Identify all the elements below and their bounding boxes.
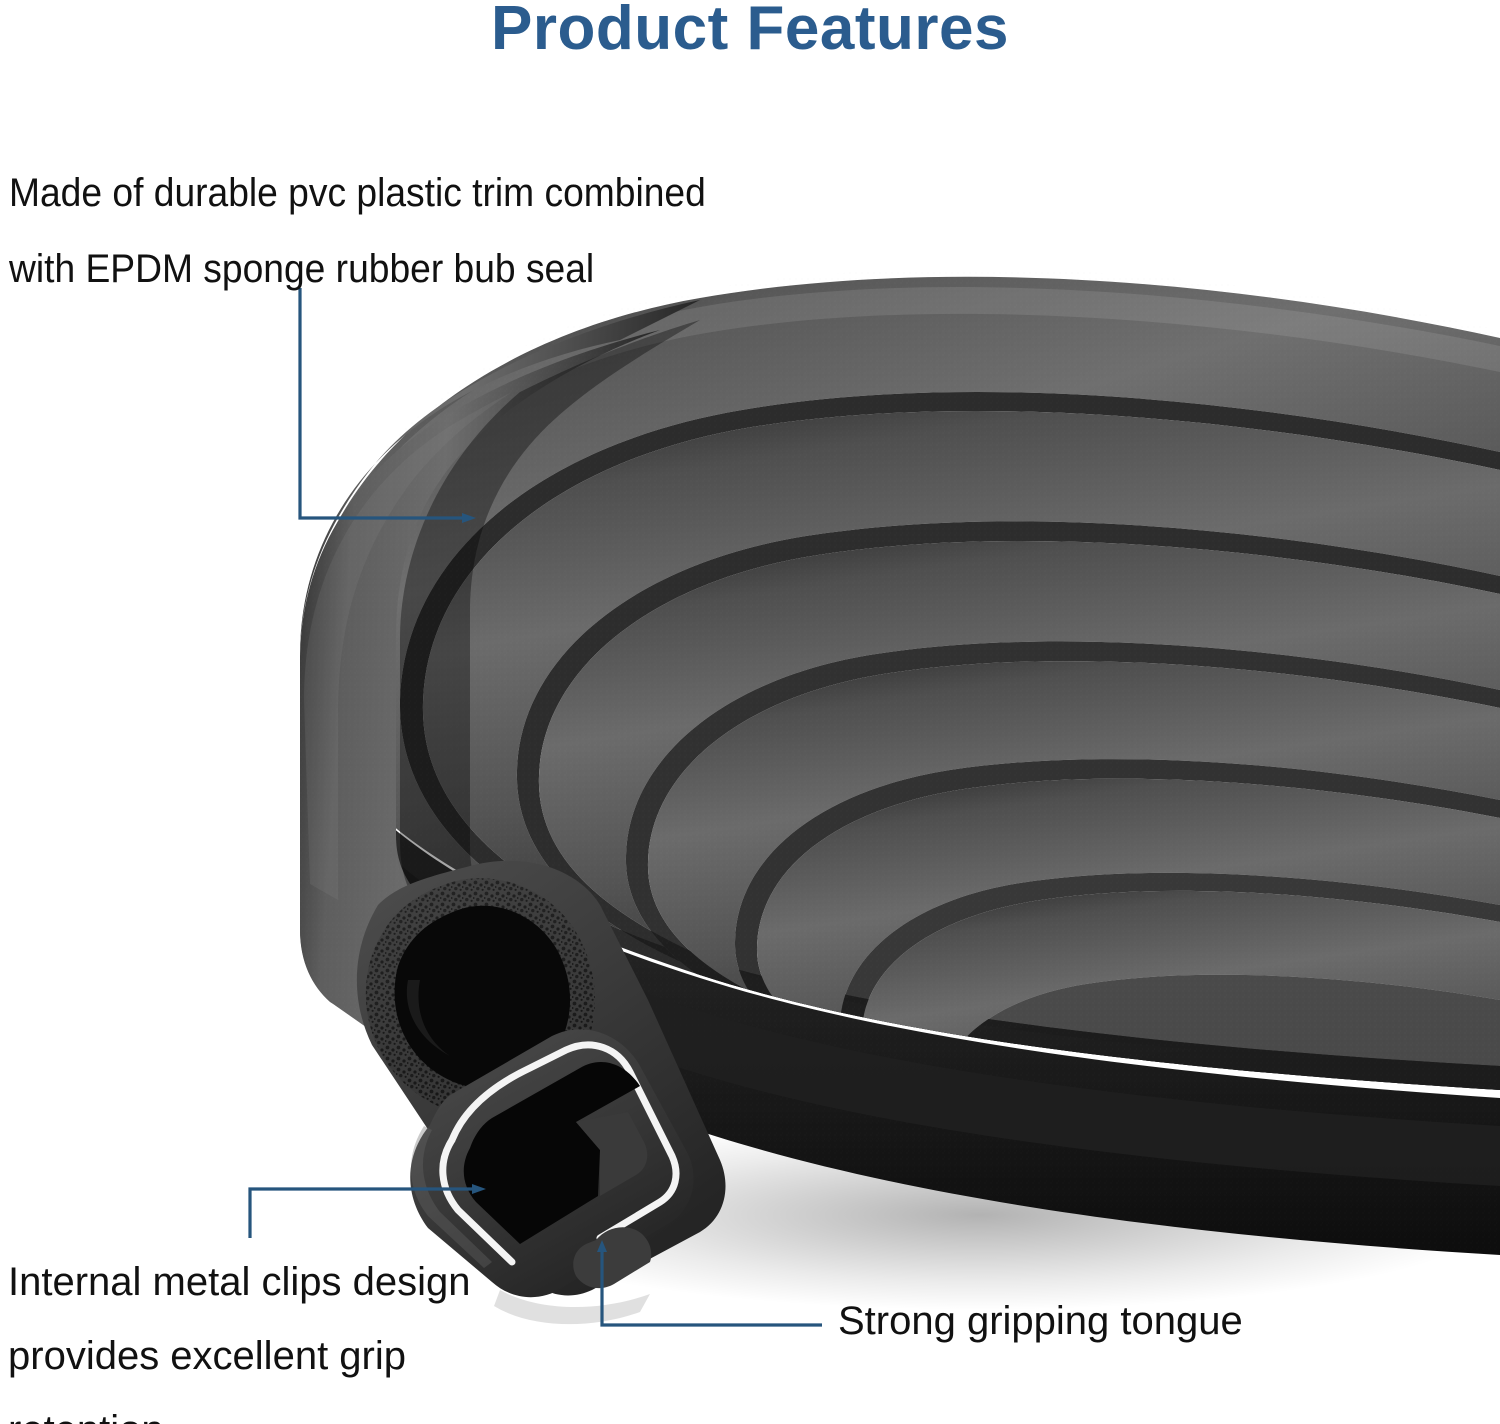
material-callout: Made of durable pvc plastic trim combine…	[9, 155, 781, 307]
clips-callout-line-2: provides excellent grip	[8, 1319, 528, 1393]
product-features-page: Product Features Made of durable pvc pla…	[0, 0, 1500, 1424]
metal-clips-callout: Internal metal clips design provides exc…	[8, 1245, 528, 1424]
gripping-tongue-callout: Strong gripping tongue	[838, 1290, 1358, 1352]
clips-callout-line-3: retention	[8, 1393, 528, 1424]
clips-callout-line-1: Internal metal clips design	[8, 1245, 528, 1319]
material-callout-line-1: Made of durable pvc plastic trim combine…	[9, 155, 781, 231]
tongue-callout-line-1: Strong gripping tongue	[838, 1290, 1358, 1352]
material-callout-line-2: with EPDM sponge rubber bub seal	[9, 231, 781, 307]
page-title: Product Features	[0, 0, 1500, 61]
